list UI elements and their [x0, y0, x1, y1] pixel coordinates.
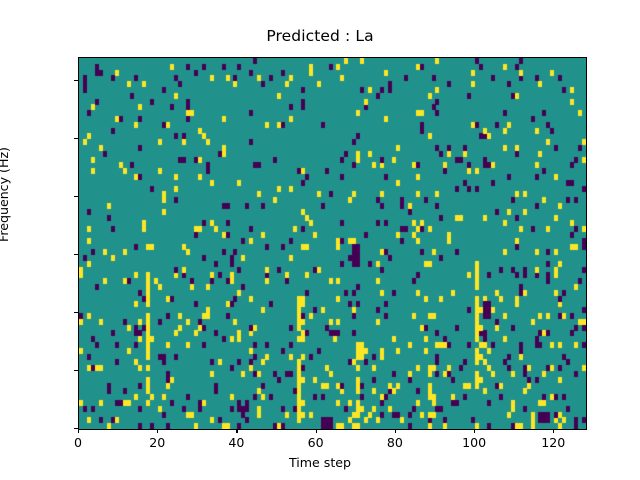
x-tick-mark: [78, 429, 79, 433]
y-tick-mark: [74, 138, 78, 139]
x-tick-label: 40: [206, 435, 266, 450]
x-tick-mark: [316, 429, 317, 433]
x-tick-mark: [395, 429, 396, 433]
y-axis-ticks: 020000400006000080000100000120000: [0, 0, 78, 480]
x-tick-label: 100: [444, 435, 504, 450]
y-tick-mark: [74, 312, 78, 313]
x-tick-mark: [553, 429, 554, 433]
x-tick-label: 20: [127, 435, 187, 450]
y-tick-mark: [74, 80, 78, 81]
x-tick-label: 80: [365, 435, 425, 450]
x-tick-label: 0: [48, 435, 108, 450]
matplotlib-figure: Predicted : La 0200004000060000800001000…: [0, 0, 640, 480]
y-axis-label: Frequency (Hz): [0, 147, 11, 242]
x-axis-label: Time step: [0, 455, 640, 470]
x-tick-mark: [474, 429, 475, 433]
x-tick-mark: [236, 429, 237, 433]
y-tick-mark: [74, 370, 78, 371]
x-tick-label: 120: [523, 435, 583, 450]
y-tick-mark: [74, 254, 78, 255]
heatmap-canvas: [79, 58, 586, 429]
x-tick-mark: [157, 429, 158, 433]
x-tick-label: 60: [286, 435, 346, 450]
y-tick-mark: [74, 196, 78, 197]
heatmap-plot-area: [78, 57, 587, 430]
chart-title: Predicted : La: [0, 27, 640, 45]
